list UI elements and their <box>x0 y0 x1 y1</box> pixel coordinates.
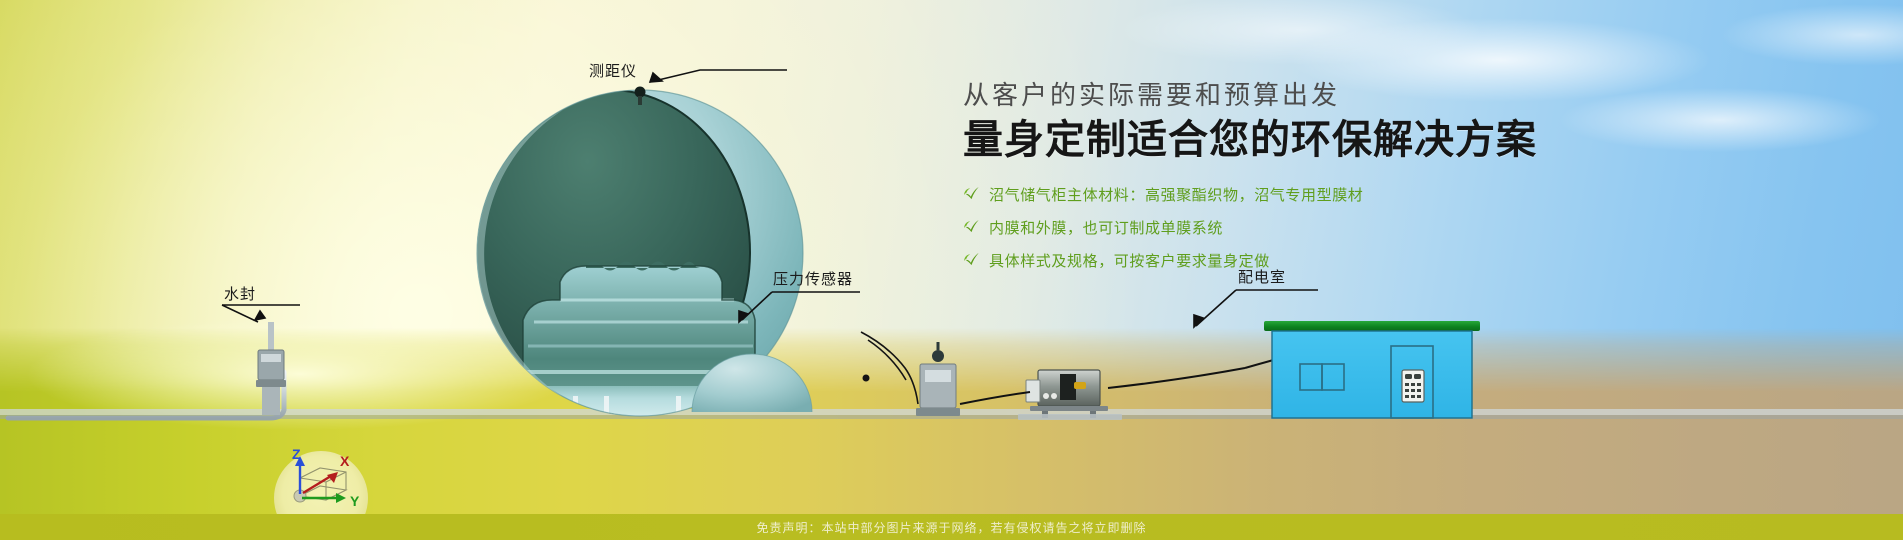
feature-bullet-1-text: 沼气储气柜主体材料：高强聚酯织物，沼气专用型膜材 <box>989 184 1363 205</box>
axis-label-x: X <box>340 453 350 469</box>
feature-bullet-3: 具体样式及规格，可按客户要求量身定做 <box>963 250 1723 271</box>
check-mark-icon <box>963 186 980 203</box>
axis-label-z: Z <box>292 446 301 462</box>
disclaimer-text: 免责声明：本站中部分图片来源于网络，若有侵权请告之将立即删除 <box>756 519 1146 536</box>
rangefinder-sensor <box>635 87 646 98</box>
banner-root: Z X Y 测距仪 水封 压力传感器 配电室 从客户的实际需要和预算出发 量身定… <box>0 0 1903 540</box>
callout-label-water-seal: 水封 <box>224 283 256 304</box>
power-distribution-building <box>1264 321 1480 418</box>
feature-bullet-list: 沼气储气柜主体材料：高强聚酯织物，沼气专用型膜材 内膜和外膜，也可订制成单膜系统… <box>963 184 1723 271</box>
check-mark-icon <box>963 252 980 269</box>
subheadline: 从客户的实际需要和预算出发 <box>963 78 1723 113</box>
disclaimer-bar: 免责声明：本站中部分图片来源于网络，若有侵权请告之将立即删除 <box>0 514 1903 540</box>
callout-label-rangefinder: 测距仪 <box>589 60 637 81</box>
headline: 量身定制适合您的环保解决方案 <box>963 115 1723 166</box>
feature-bullet-3-text: 具体样式及规格，可按客户要求量身定做 <box>989 250 1270 271</box>
pressure-sensor-unit <box>916 342 960 416</box>
callout-label-pressure-sensor: 压力传感器 <box>773 268 853 289</box>
axis-label-y: Y <box>350 493 360 509</box>
feature-bullet-2-text: 内膜和外膜，也可订制成单膜系统 <box>989 217 1223 238</box>
feature-bullet-2: 内膜和外膜，也可订制成单膜系统 <box>963 217 1723 238</box>
feature-bullet-1: 沼气储气柜主体材料：高强聚酯织物，沼气专用型膜材 <box>963 184 1723 205</box>
check-mark-icon <box>963 219 980 236</box>
marketing-copy-block: 从客户的实际需要和预算出发 量身定制适合您的环保解决方案 沼气储气柜主体材料：高… <box>963 78 1723 283</box>
